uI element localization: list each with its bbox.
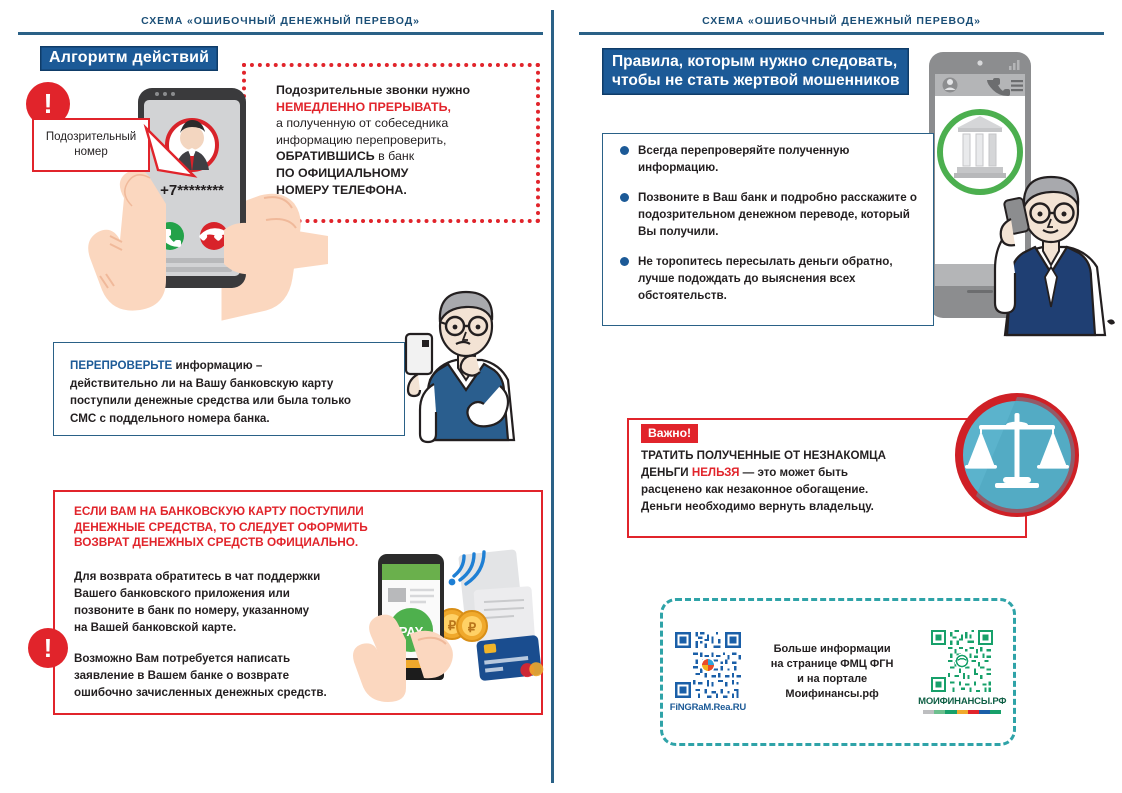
return-title-line-3: ВОЗВРАТ ДЕНЕЖНЫХ СРЕДСТВ ОФИЦИАЛЬНО. [74, 535, 374, 551]
recheck-highlight: ПЕРЕПРОВЕРЬТЕ [70, 359, 172, 372]
important-line-3: расценено как незаконное обогащение. [641, 481, 985, 498]
right-header: СХЕМА «ОШИБОЧНЫЙ ДЕНЕЖНЫЙ ПЕРЕВОД» [579, 14, 1104, 44]
qr-code-moifinansy-icon[interactable] [931, 630, 993, 692]
rule-text-2: Позвоните в Ваш банк и подробно расскажи… [638, 189, 930, 240]
return-paragraph-1: Для возврата обратитесь в чат поддержки … [74, 568, 364, 636]
badge-rules-line-2: чтобы не стать жертвой мошенников [612, 71, 899, 90]
callout-line-2: номер [46, 145, 136, 160]
return-p1-line-3: позвоните в банк по номеру, указанному [74, 602, 364, 619]
man-calling-bank-illustration [985, 175, 1117, 335]
important-tag: Важно! [641, 424, 698, 443]
return-p1-line-1: Для возврата обратитесь в чат поддержки [74, 568, 364, 585]
badge-rules-line-1: Правила, которым нужно следовать, [612, 52, 899, 71]
right-header-title: СХЕМА «ОШИБОЧНЫЙ ДЕНЕЖНЫЙ ПЕРЕВОД» [579, 14, 1104, 28]
list-item: Всегда перепроверяйте полученную информа… [620, 142, 930, 176]
mobile-payment-illustration: ₽ ₽ [366, 542, 546, 702]
important-line-1: ТРАТИТЬ ПОЛУЧЕННЫЕ ОТ НЕЗНАКОМЦА [641, 447, 985, 464]
bullet-dot-icon [620, 257, 629, 266]
footer-content: FiNGRaM.Rea.RU Больше информации на стра… [660, 598, 1016, 746]
badge-algorithm: Алгоритм действий [40, 46, 218, 71]
svg-text:₽: ₽ [448, 618, 457, 633]
suspicious-number-callout: Подозрительный номер [32, 118, 150, 172]
footer-line-4: Моифинансы.рф [768, 687, 896, 702]
return-p1-line-2: Вашего банковского приложения или [74, 585, 364, 602]
left-panel: СХЕМА «ОШИБОЧНЫЙ ДЕНЕЖНЫЙ ПЕРЕВОД» Алгор… [0, 0, 561, 793]
important-line-2b: — это может быть [739, 466, 848, 479]
right-header-rule [579, 32, 1104, 35]
left-header-title: СХЕМА «ОШИБОЧНЫЙ ДЕНЕЖНЫЙ ПЕРЕВОД» [18, 14, 543, 28]
important-line-2-red: НЕЛЬЗЯ [692, 466, 740, 479]
qr-moifinansy-caption: МОИФИНАНСЫ.РФ [918, 696, 1006, 707]
qr-code-fingram-icon[interactable] [675, 632, 741, 698]
return-p2-line-2: заявление в Вашем банке о возврате [74, 667, 364, 684]
badge-rules: Правила, которым нужно следовать, чтобы … [602, 48, 909, 95]
bullet-dot-icon [620, 193, 629, 202]
return-p1-line-4: на Вашей банковской карте. [74, 619, 364, 636]
worried-man-illustration [404, 282, 534, 440]
recheck-rest: информацию – [172, 359, 262, 372]
footer-description: Больше информации на странице ФМЦ ФГН и … [768, 642, 896, 702]
return-title-line-1: ЕСЛИ ВАМ НА БАНКОВСКУЮ КАРТУ ПОСТУПИЛИ [74, 504, 374, 520]
return-title: ЕСЛИ ВАМ НА БАНКОВСКУЮ КАРТУ ПОСТУПИЛИ Д… [74, 504, 374, 551]
list-item: Не торопитесь пересылать деньги обратно,… [620, 253, 930, 304]
recheck-line-4: СМС с поддельного номера банка. [70, 410, 400, 428]
hamburger-menu-icon [1011, 80, 1023, 91]
return-paragraph-2: Возможно Вам потребуется написать заявле… [74, 650, 364, 701]
return-title-line-2: ДЕНЕЖНЫЕ СРЕДСТВА, ТО СЛЕДУЕТ ОФОРМИТЬ [74, 520, 374, 536]
return-p2-line-1: Возможно Вам потребуется написать [74, 650, 364, 667]
qr-moifinansy[interactable]: МОИФИНАНСЫ.РФ [918, 630, 1006, 714]
left-header: СХЕМА «ОШИБОЧНЫЙ ДЕНЕЖНЫЙ ПЕРЕВОД» [18, 14, 543, 44]
panel-divider [551, 10, 554, 783]
return-p2-line-3: ошибочно зачисленных денежных средств. [74, 684, 364, 701]
recheck-text: ПЕРЕПРОВЕРЬТЕ информацию – действительно… [70, 357, 400, 427]
rules-list: Всегда перепроверяйте полученную информа… [620, 142, 930, 317]
rule-text-3: Не торопитесь пересылать деньги обратно,… [638, 253, 930, 304]
user-avatar-icon [943, 78, 958, 93]
scales-of-justice-icon [955, 393, 1079, 517]
callout-line-1: Подозрительный [46, 130, 136, 145]
exclamation-icon-bottom: ! [28, 628, 68, 668]
important-line-4: Деньги необходимо вернуть владельцу. [641, 498, 985, 515]
bullet-dot-icon [620, 146, 629, 155]
footer-line-1: Больше информации [768, 642, 896, 657]
qr-fingram-caption: FiNGRaM.Rea.RU [670, 702, 746, 713]
qr-fingram[interactable]: FiNGRaM.Rea.RU [670, 632, 746, 713]
footer-line-3: и на портале [768, 672, 896, 687]
svg-text:₽: ₽ [468, 620, 477, 635]
left-header-rule [18, 32, 543, 35]
recheck-line-2: действительно ли на Вашу банковскую карт… [70, 375, 400, 393]
callout-pointer [146, 124, 206, 188]
dotted-line-5b: в банк [375, 149, 414, 163]
list-item: Позвоните в Ваш банк и подробно расскажи… [620, 189, 930, 240]
recheck-line-3: поступили денежные средства или была тол… [70, 392, 400, 410]
moifinansy-color-bar [923, 710, 1001, 714]
important-line-2a: ДЕНЬГИ [641, 466, 692, 479]
footer-line-2: на странице ФМЦ ФГН [768, 657, 896, 672]
important-text: ТРАТИТЬ ПОЛУЧЕННЫЕ ОТ НЕЗНАКОМЦА ДЕНЬГИ … [641, 447, 985, 515]
rule-text-1: Всегда перепроверяйте полученную информа… [638, 142, 930, 176]
phone-call-illustration: +7******** [28, 78, 358, 328]
infographic-page: СХЕМА «ОШИБОЧНЫЙ ДЕНЕЖНЫЙ ПЕРЕВОД» Алгор… [0, 0, 1122, 793]
